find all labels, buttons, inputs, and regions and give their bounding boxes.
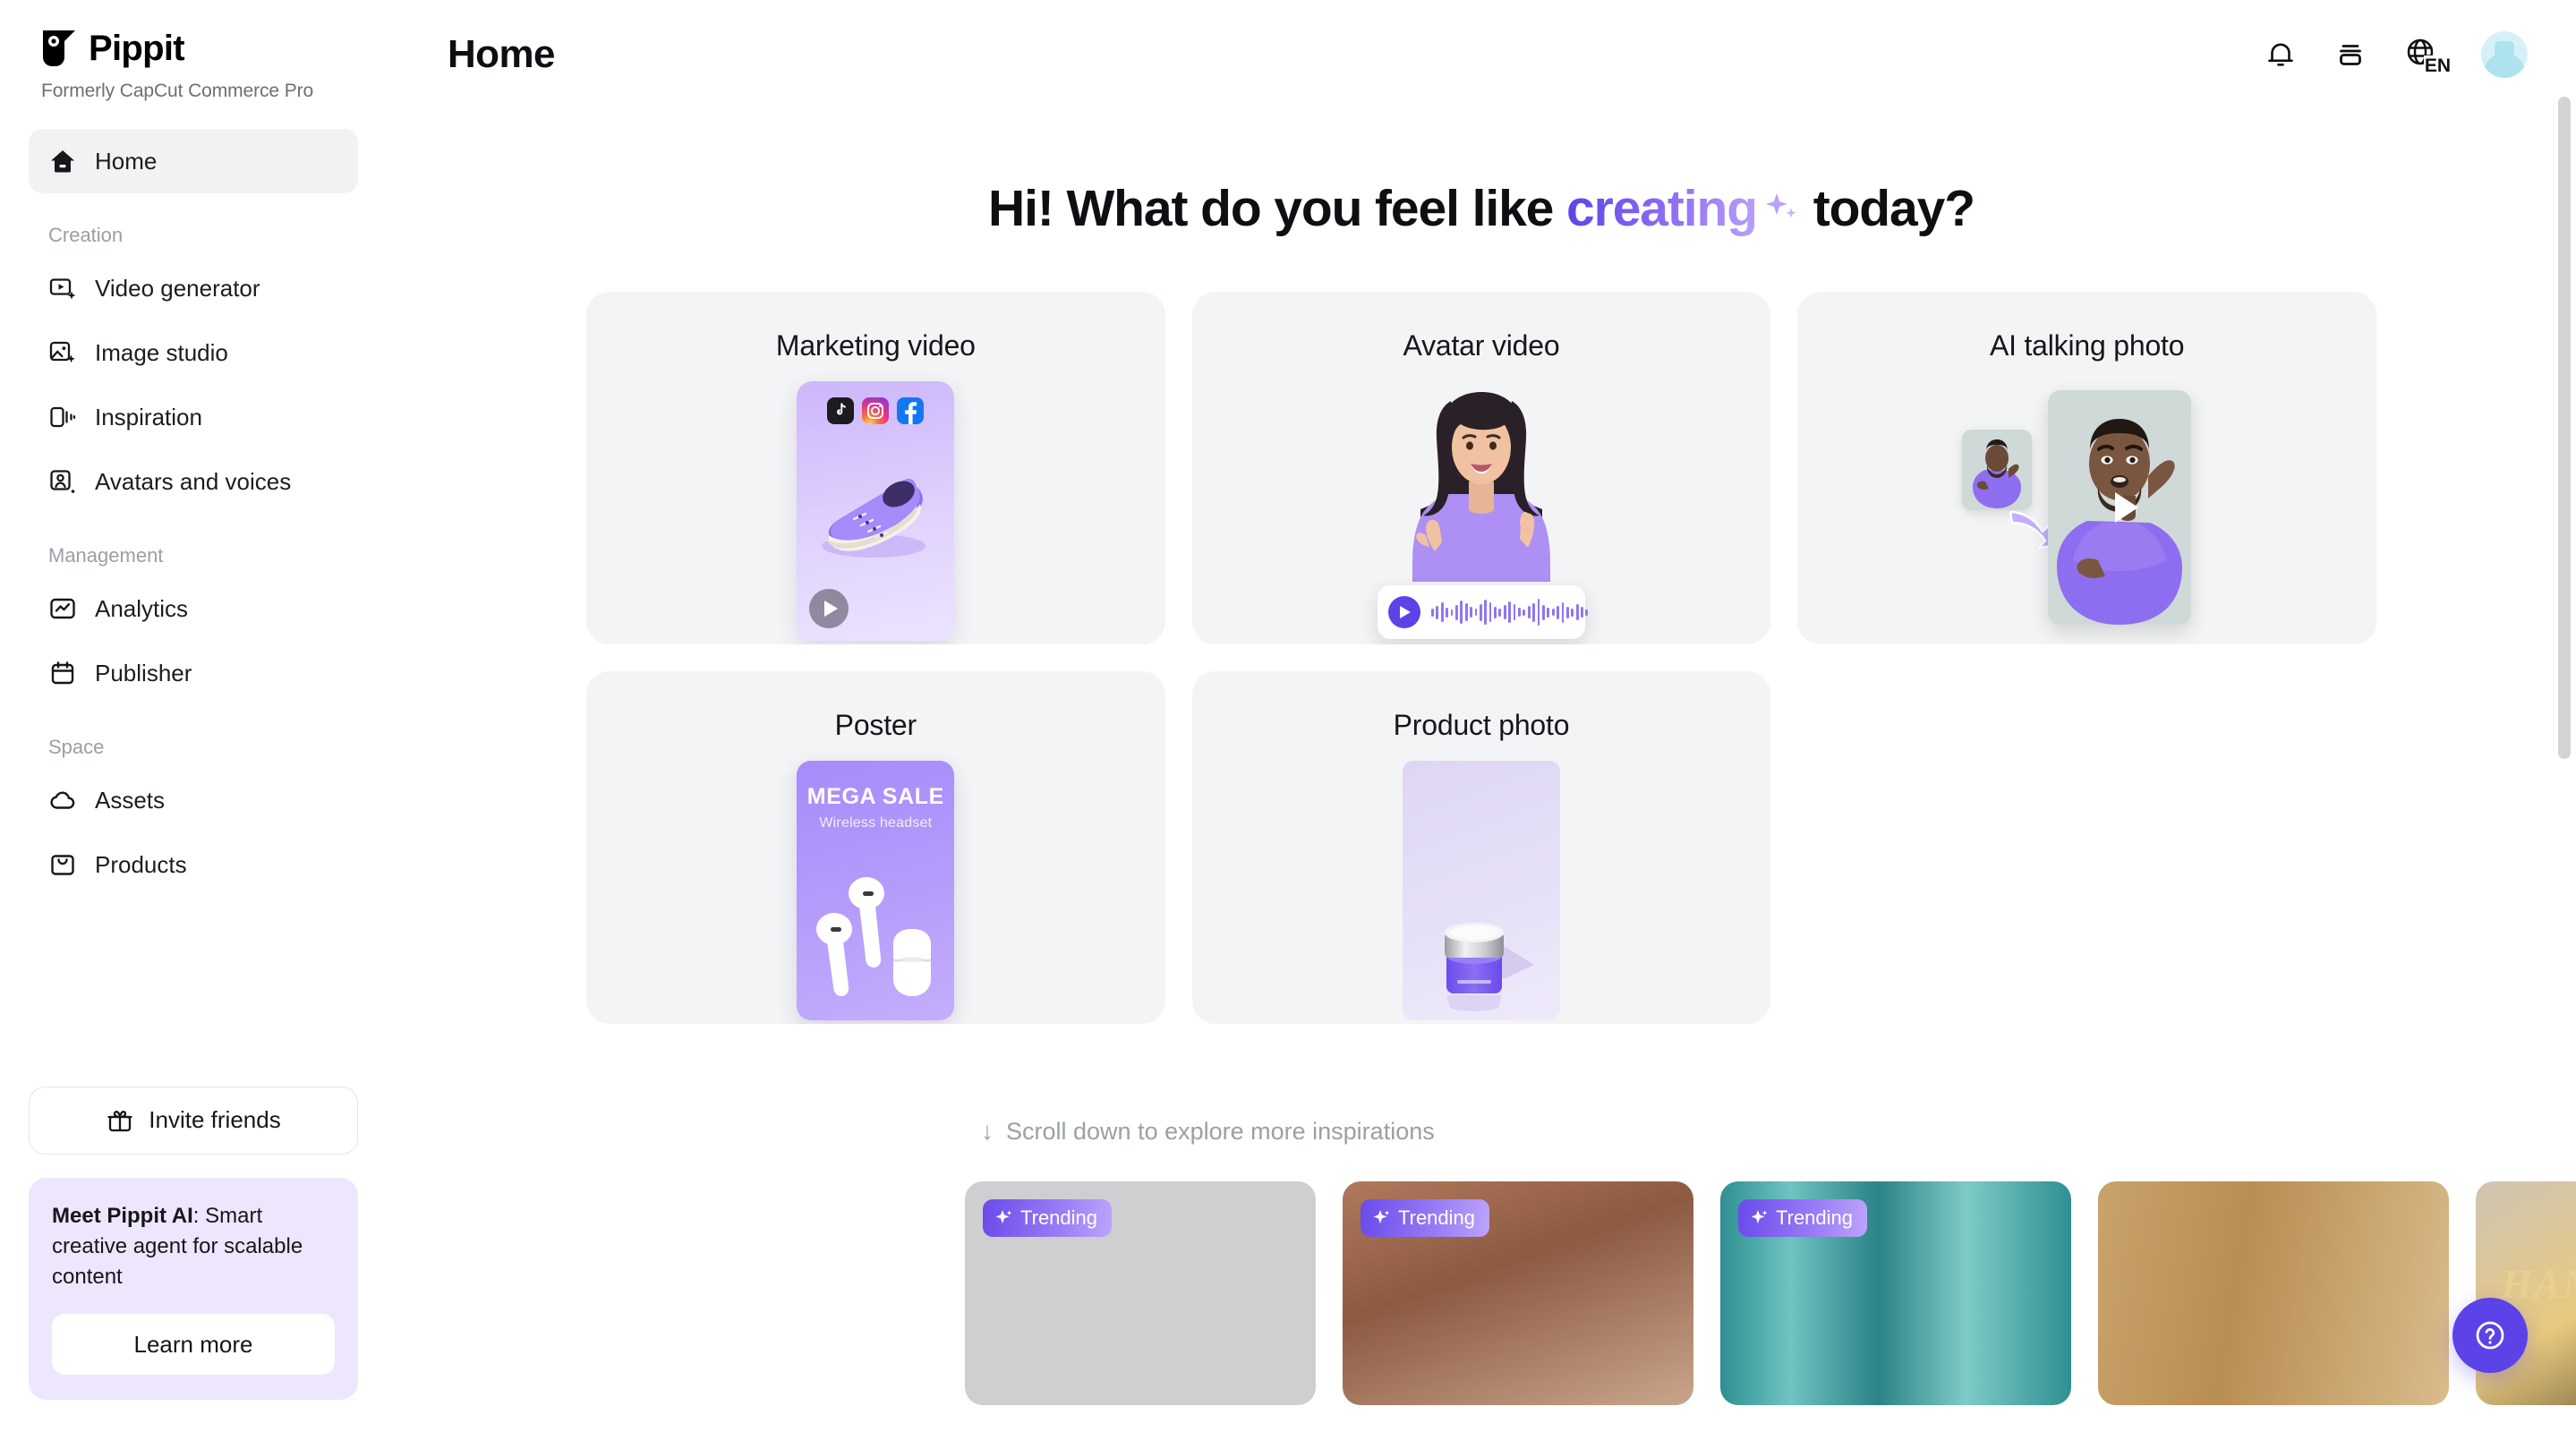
card-ai-talking-photo[interactable]: AI talking photo xyxy=(1797,292,2376,644)
help-question-icon xyxy=(2470,1316,2510,1355)
main-content: Hi! What do you feel like creating today… xyxy=(387,179,2576,1405)
brand-tagline: Formerly CapCut Commerce Pro xyxy=(41,81,345,102)
sparkle-icon xyxy=(1371,1208,1391,1228)
status-badge: Trending xyxy=(1738,1199,1867,1237)
home-icon xyxy=(48,147,77,175)
scrollbar-thumb[interactable] xyxy=(2558,97,2571,759)
avatar[interactable] xyxy=(2481,31,2528,78)
avatar-video-art xyxy=(1192,381,1771,644)
sidebar-item-label: Inspiration xyxy=(95,404,202,431)
gift-icon xyxy=(106,1106,134,1135)
social-icon-row xyxy=(797,381,954,424)
inspiration-icon xyxy=(48,403,77,431)
invite-friends-button[interactable]: Invite friends xyxy=(29,1087,358,1155)
play-icon[interactable] xyxy=(1388,596,1420,628)
sidebar-item-label: Assets xyxy=(95,787,165,814)
sparkle-icon xyxy=(1749,1208,1769,1228)
sneaker-illustration xyxy=(809,456,943,573)
cosmetic-jar-illustration xyxy=(1423,879,1540,1013)
badge-label: Trending xyxy=(1776,1206,1853,1230)
main-panel: Home xyxy=(387,0,2576,1432)
sidebar-item-inspiration[interactable]: Inspiration xyxy=(29,385,358,449)
sidebar: Pippit Formerly CapCut Commerce Pro Home… xyxy=(0,0,387,1432)
help-button[interactable] xyxy=(2452,1298,2528,1373)
sidebar-group-creation: Creation Video generator xyxy=(29,224,358,514)
headline-post: today? xyxy=(1800,180,1975,237)
badge-label: Trending xyxy=(1398,1206,1475,1230)
topbar: Home xyxy=(387,0,2576,109)
card-title: Avatar video xyxy=(1192,292,1771,362)
sidebar-item-label: Avatars and voices xyxy=(95,468,291,496)
product-backdrop xyxy=(1403,761,1560,1020)
video-generator-icon xyxy=(48,274,77,303)
talking-photo-wrap xyxy=(1935,381,2239,641)
woman-illustration xyxy=(1392,381,1571,605)
card-poster[interactable]: Poster MEGA SALE Wireless headset xyxy=(586,671,1165,1024)
promo-card: Meet Pippit AI: Smart creative agent for… xyxy=(29,1178,358,1400)
sidebar-item-label: Analytics xyxy=(95,595,188,623)
sidebar-group-management: Management Analytics Publisher xyxy=(29,544,358,705)
sidebar-item-label: Products xyxy=(95,851,187,879)
promo-text: Meet Pippit AI: Smart creative agent for… xyxy=(52,1201,335,1292)
avatars-voices-icon xyxy=(48,467,77,496)
poster-subheadline: Wireless headset xyxy=(797,815,954,831)
earbuds-illustration xyxy=(804,874,947,1008)
down-arrow-icon: ↓ xyxy=(981,1117,994,1146)
play-icon[interactable] xyxy=(809,589,849,628)
sidebar-item-label: Image studio xyxy=(95,339,228,367)
promo-title-bold: Meet Pippit AI xyxy=(52,1204,193,1228)
language-selector[interactable]: EN xyxy=(2401,34,2451,75)
source-photo-thumbnail xyxy=(1962,430,2032,510)
learn-more-button[interactable]: Learn more xyxy=(52,1314,335,1375)
scrollbar[interactable] xyxy=(2558,97,2571,1421)
sidebar-footer: Invite friends Meet Pippit AI: Smart cre… xyxy=(29,1087,358,1400)
card-avatar-video[interactable]: Avatar video xyxy=(1192,292,1771,644)
headline-accent: creating xyxy=(1566,180,1757,237)
image-studio-icon xyxy=(48,338,77,367)
headline-pre: Hi! What do you feel like xyxy=(988,180,1566,237)
instagram-icon xyxy=(862,397,889,424)
app-root: Pippit Formerly CapCut Commerce Pro Home… xyxy=(0,0,2576,1432)
page-headline: Hi! What do you feel like creating today… xyxy=(387,179,2576,238)
language-code: EN xyxy=(2424,55,2451,77)
card-title: Poster xyxy=(586,671,1165,742)
trending-card[interactable]: Trending xyxy=(1720,1181,2071,1405)
invite-friends-label: Invite friends xyxy=(149,1106,280,1134)
sidebar-item-label: Home xyxy=(95,148,157,175)
product-photo-art xyxy=(1192,761,1771,1024)
sidebar-group-space: Space Assets Products xyxy=(29,736,358,897)
analytics-icon xyxy=(48,594,77,623)
trending-card[interactable] xyxy=(2098,1181,2449,1405)
card-title: Product photo xyxy=(1192,671,1771,742)
status-badge: Trending xyxy=(983,1199,1112,1237)
sidebar-item-products[interactable]: Products xyxy=(29,832,358,897)
sidebar-item-avatars-and-voices[interactable]: Avatars and voices xyxy=(29,449,358,514)
ai-talking-photo-art xyxy=(1797,381,2376,644)
marketing-video-art xyxy=(586,381,1165,644)
card-marketing-video[interactable]: Marketing video xyxy=(586,292,1165,644)
sidebar-nav: Home Creation Video generator xyxy=(0,129,387,897)
creation-card-grid: Marketing video xyxy=(586,292,2376,1024)
sidebar-item-label: Publisher xyxy=(95,660,192,687)
avatar-person-wrap xyxy=(1347,381,1616,641)
sidebar-item-image-studio[interactable]: Image studio xyxy=(29,320,358,385)
poster-headline: MEGA SALE xyxy=(797,761,954,810)
brand-block: Pippit Formerly CapCut Commerce Pro xyxy=(0,0,387,102)
sidebar-item-assets[interactable]: Assets xyxy=(29,768,358,832)
scroll-hint-label: Scroll down to explore more inspirations xyxy=(1006,1118,1435,1146)
generated-video-preview xyxy=(2048,390,2191,625)
stack-icon[interactable] xyxy=(2331,35,2370,74)
topbar-icon-group: EN xyxy=(2261,31,2528,78)
play-icon[interactable] xyxy=(2115,492,2138,523)
pippit-logo-icon xyxy=(41,29,77,68)
sidebar-group-label: Space xyxy=(29,736,358,759)
trending-card[interactable]: Trending xyxy=(965,1181,1316,1405)
sidebar-item-publisher[interactable]: Publisher xyxy=(29,641,358,705)
card-product-photo[interactable]: Product photo xyxy=(1192,671,1771,1024)
bell-icon[interactable] xyxy=(2261,35,2300,74)
poster-mock: MEGA SALE Wireless headset xyxy=(797,761,954,1020)
trending-card[interactable]: Trending xyxy=(1343,1181,1693,1405)
status-badge: Trending xyxy=(1361,1199,1489,1237)
sidebar-item-label: Video generator xyxy=(95,275,260,303)
brand-name: Pippit xyxy=(89,30,184,66)
page-title: Home xyxy=(448,32,555,77)
badge-label: Trending xyxy=(1020,1206,1097,1230)
scroll-down-hint: ↓ Scroll down to explore more inspiratio… xyxy=(981,1117,2576,1146)
phone-mock xyxy=(797,381,954,641)
sidebar-item-analytics[interactable]: Analytics xyxy=(29,576,358,641)
bag-icon xyxy=(48,850,77,879)
sidebar-item-video-generator[interactable]: Video generator xyxy=(29,256,358,320)
tiktok-icon xyxy=(827,397,854,424)
publisher-calendar-icon xyxy=(48,659,77,687)
card-title: AI talking photo xyxy=(1797,292,2376,362)
cloud-icon xyxy=(48,786,77,814)
waveform xyxy=(1431,597,1588,627)
card-title: Marketing video xyxy=(586,292,1165,362)
poster-art: MEGA SALE Wireless headset xyxy=(586,761,1165,1024)
facebook-icon xyxy=(897,397,924,424)
sidebar-group-label: Management xyxy=(29,544,358,567)
sparkle-icon xyxy=(1757,190,1800,231)
trending-strip: Trending Trending Trending xyxy=(965,1181,2576,1405)
sidebar-group-label: Creation xyxy=(29,224,358,247)
sidebar-item-home[interactable]: Home xyxy=(29,129,358,193)
sparkle-icon xyxy=(994,1208,1013,1228)
audio-player[interactable] xyxy=(1378,585,1585,639)
